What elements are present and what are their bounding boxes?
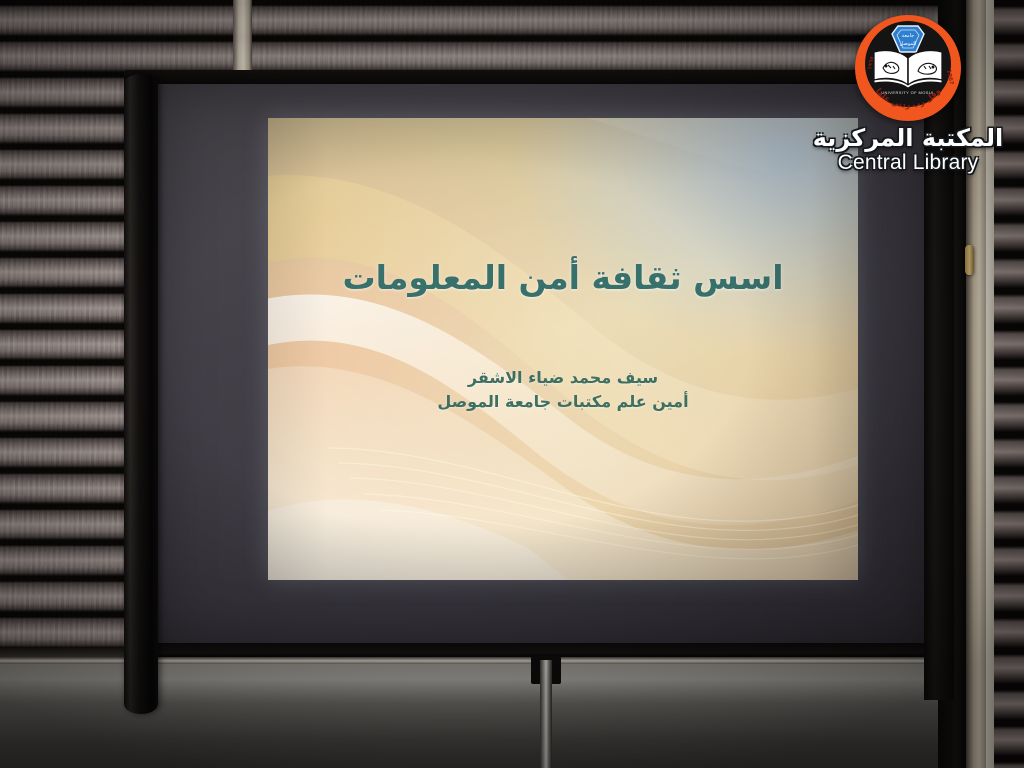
svg-text:الموصل: الموصل [900, 41, 916, 47]
screenshot-stage: اسس ثقافة أمن المعلومات سيف محمد ضياء ال… [0, 0, 1024, 768]
slide-ribbon-decoration [268, 118, 858, 580]
library-name-english: Central Library [808, 151, 1008, 175]
slide-author-name: سيف محمد ضياء الاشقر [268, 366, 858, 390]
library-name-arabic: المكتبة المركزية [808, 126, 1008, 151]
screen-bottom-weight-bar [148, 643, 938, 657]
slide-byline: سيف محمد ضياء الاشقر أمين علم مكتبات جام… [268, 366, 858, 414]
central-library-watermark: جامعة الموصل [808, 14, 1008, 175]
door-handle-icon[interactable] [965, 245, 974, 275]
tripod-stand-pole [540, 660, 552, 768]
university-of-mosul-seal-icon: جامعة الموصل [854, 14, 962, 122]
slide-title: اسس ثقافة أمن المعلومات [268, 258, 858, 297]
projected-slide: اسس ثقافة أمن المعلومات سيف محمد ضياء ال… [268, 118, 858, 580]
svg-text:جامعة: جامعة [902, 33, 914, 39]
svg-text:UNIVERSITY OF MOSUL: UNIVERSITY OF MOSUL [881, 90, 935, 95]
screen-roller-casing[interactable] [124, 74, 158, 714]
slide-affiliation: أمين علم مكتبات جامعة الموصل [268, 390, 858, 414]
